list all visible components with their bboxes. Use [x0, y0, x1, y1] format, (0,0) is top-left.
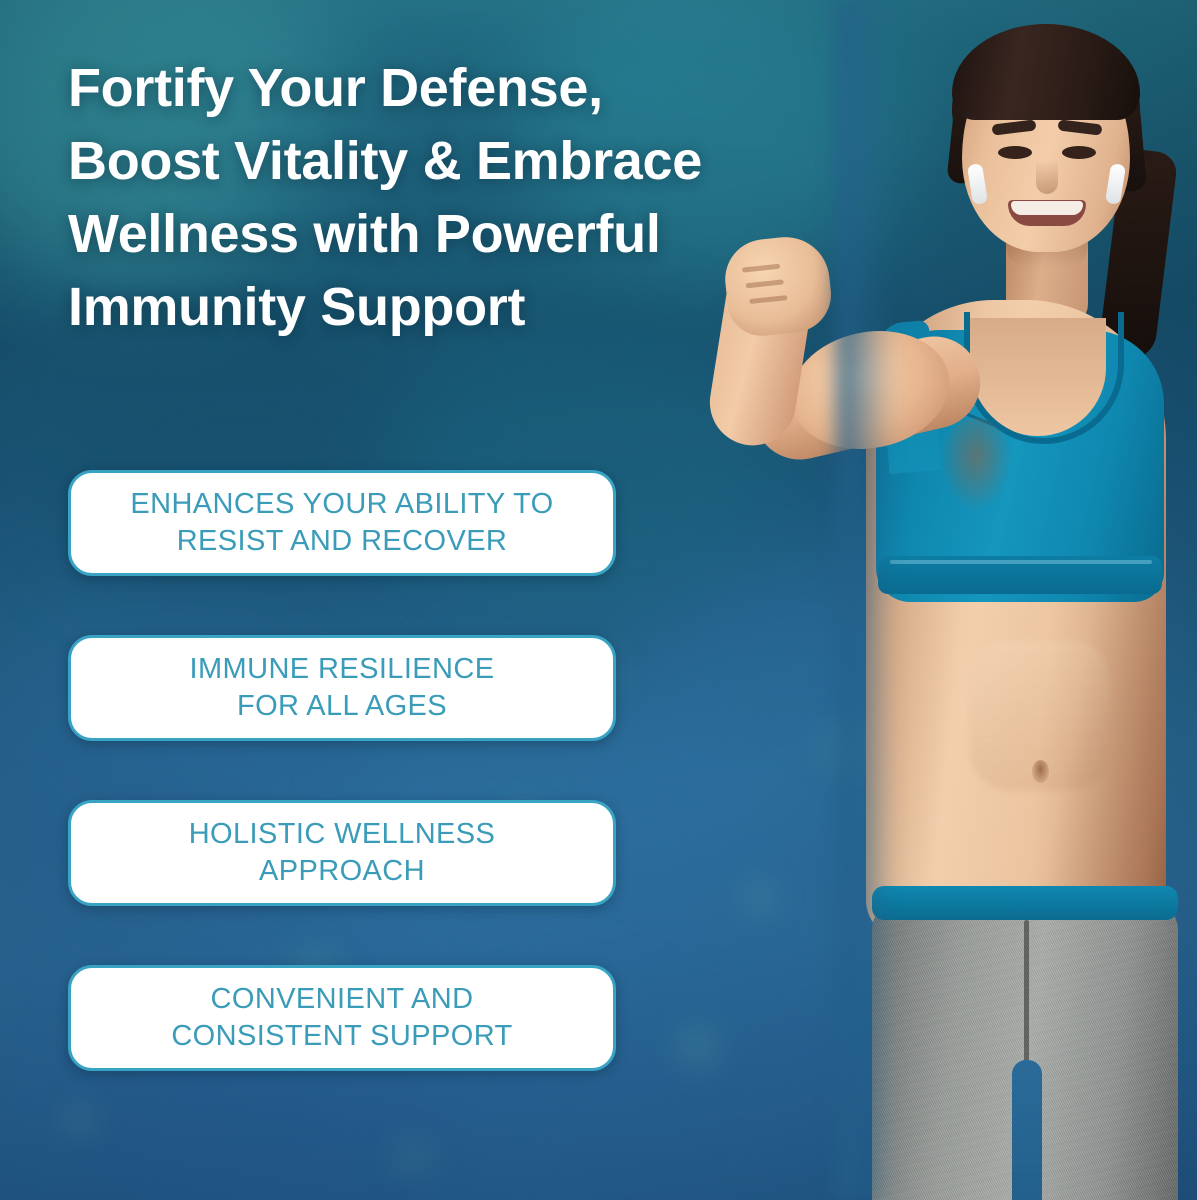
hairline [952, 24, 1140, 120]
feature-pill-enhances-resist-recover[interactable]: ENHANCES YOUR ABILITY TO RESIST AND RECO… [68, 470, 616, 576]
headline-line-1: Fortify Your Defense, [68, 52, 888, 125]
page-title: Fortify Your Defense, Boost Vitality & E… [68, 52, 888, 344]
feature-list: ENHANCES YOUR ABILITY TO RESIST AND RECO… [68, 470, 616, 1130]
leggings-seam [1024, 920, 1029, 1070]
feature-pill-line-1: CONVENIENT AND [171, 981, 512, 1018]
leggings-inner-gap [1012, 1060, 1042, 1200]
sports-bra-band-highlight [890, 560, 1152, 564]
feature-pill-line-2: RESIST AND RECOVER [130, 523, 553, 560]
feature-pill-line-1: HOLISTIC WELLNESS [189, 816, 496, 853]
feature-pill-line-2: FOR ALL AGES [190, 688, 495, 725]
feature-pill-line-1: ENHANCES YOUR ABILITY TO [130, 486, 553, 523]
feature-pill-line-2: APPROACH [189, 853, 496, 890]
headline-line-4: Immunity Support [68, 271, 888, 344]
feature-pill-convenient-consistent-support[interactable]: CONVENIENT AND CONSISTENT SUPPORT [68, 965, 616, 1071]
feature-pill-line-1: IMMUNE RESILIENCE [190, 651, 495, 688]
headline-line-2: Boost Vitality & Embrace [68, 125, 888, 198]
headline-line-3: Wellness with Powerful [68, 198, 888, 271]
armpit-shadow [940, 418, 1012, 512]
feature-pill-line-2: CONSISTENT SUPPORT [171, 1018, 512, 1055]
navel [1032, 760, 1049, 783]
leggings-waistband [872, 886, 1178, 920]
teeth [1011, 201, 1083, 215]
eye-right [1062, 146, 1096, 159]
eye-left [998, 146, 1032, 159]
feature-pill-holistic-wellness-approach[interactable]: HOLISTIC WELLNESS APPROACH [68, 800, 616, 906]
feature-pill-immune-resilience-all-ages[interactable]: IMMUNE RESILIENCE FOR ALL AGES [68, 635, 616, 741]
nose [1036, 160, 1058, 194]
promo-banner: Fortify Your Defense, Boost Vitality & E… [0, 0, 1197, 1200]
smiling-mouth [1008, 200, 1086, 226]
